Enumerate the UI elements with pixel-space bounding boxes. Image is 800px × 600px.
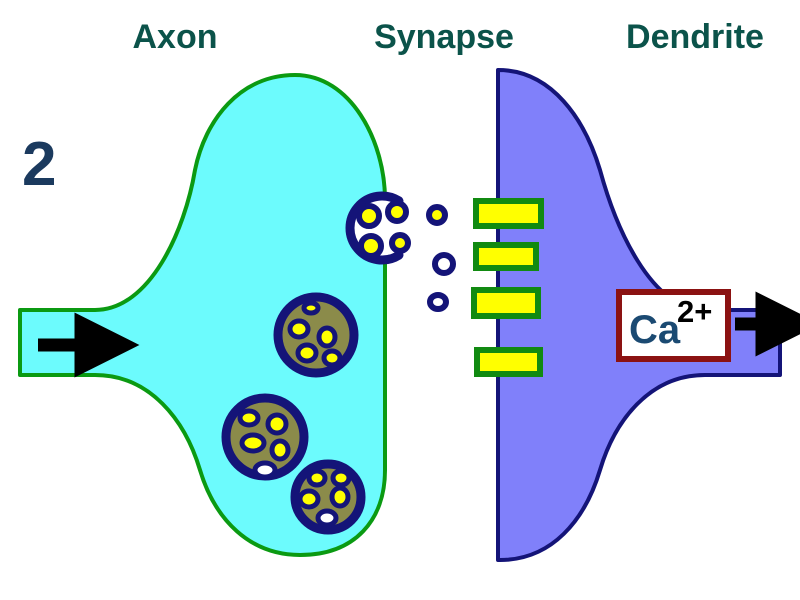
step-number-label: 2 [22,130,56,199]
neurotransmitter-particle [304,303,318,313]
neurotransmitter-particle [388,203,406,221]
vesicle-1 [278,297,354,373]
heading-synapse: Synapse [374,18,514,56]
calcium-influx-box: Ca 2+ [619,292,728,359]
heading-axon: Axon [133,18,218,56]
neurotransmitter-particle [359,206,379,226]
neurotransmitter-particle [240,411,258,425]
neurotransmitter-3 [430,295,446,309]
heading-dendrite: Dendrite [626,18,764,56]
synapse-diagram: Ca 2+ AxonSynapseDendrite 2 [0,0,800,600]
receptor-2 [476,245,536,268]
receptor-1 [476,201,541,226]
neurotransmitter-particle [242,435,264,451]
calcium-charge-superscript: 2+ [677,294,712,329]
neurotransmitter-particle [319,328,335,346]
vesicle-3 [295,464,361,530]
section-headings: AxonSynapseDendrite [133,18,764,56]
neurotransmitter-particle [333,471,349,485]
neurotransmitter-particle [272,441,288,459]
neurotransmitter-particle [309,471,325,485]
neurotransmitter-particle [290,321,308,337]
neurotransmitter-particle [392,235,408,251]
receptors [474,201,541,374]
vesicle-2 [226,398,304,477]
neurotransmitter-particle [318,511,336,525]
neurotransmitter-particle [332,488,348,506]
neurotransmitter-particle [298,345,316,361]
receptor-4 [477,350,540,374]
free-neurotransmitters [429,207,453,309]
neurotransmitter-1 [429,207,445,223]
receptor-3 [474,290,538,316]
calcium-symbol: Ca [629,308,681,352]
neurotransmitter-particle [361,236,381,256]
neurotransmitter-particle [268,415,286,433]
neurotransmitter-2 [435,255,453,273]
neurotransmitter-particle [255,463,275,477]
neurotransmitter-particle [300,491,318,507]
fusing-vesicle-group [350,196,414,260]
diagram-canvas: Ca 2+ AxonSynapseDendrite 2 [0,0,800,600]
neurotransmitter-particle [324,351,340,365]
